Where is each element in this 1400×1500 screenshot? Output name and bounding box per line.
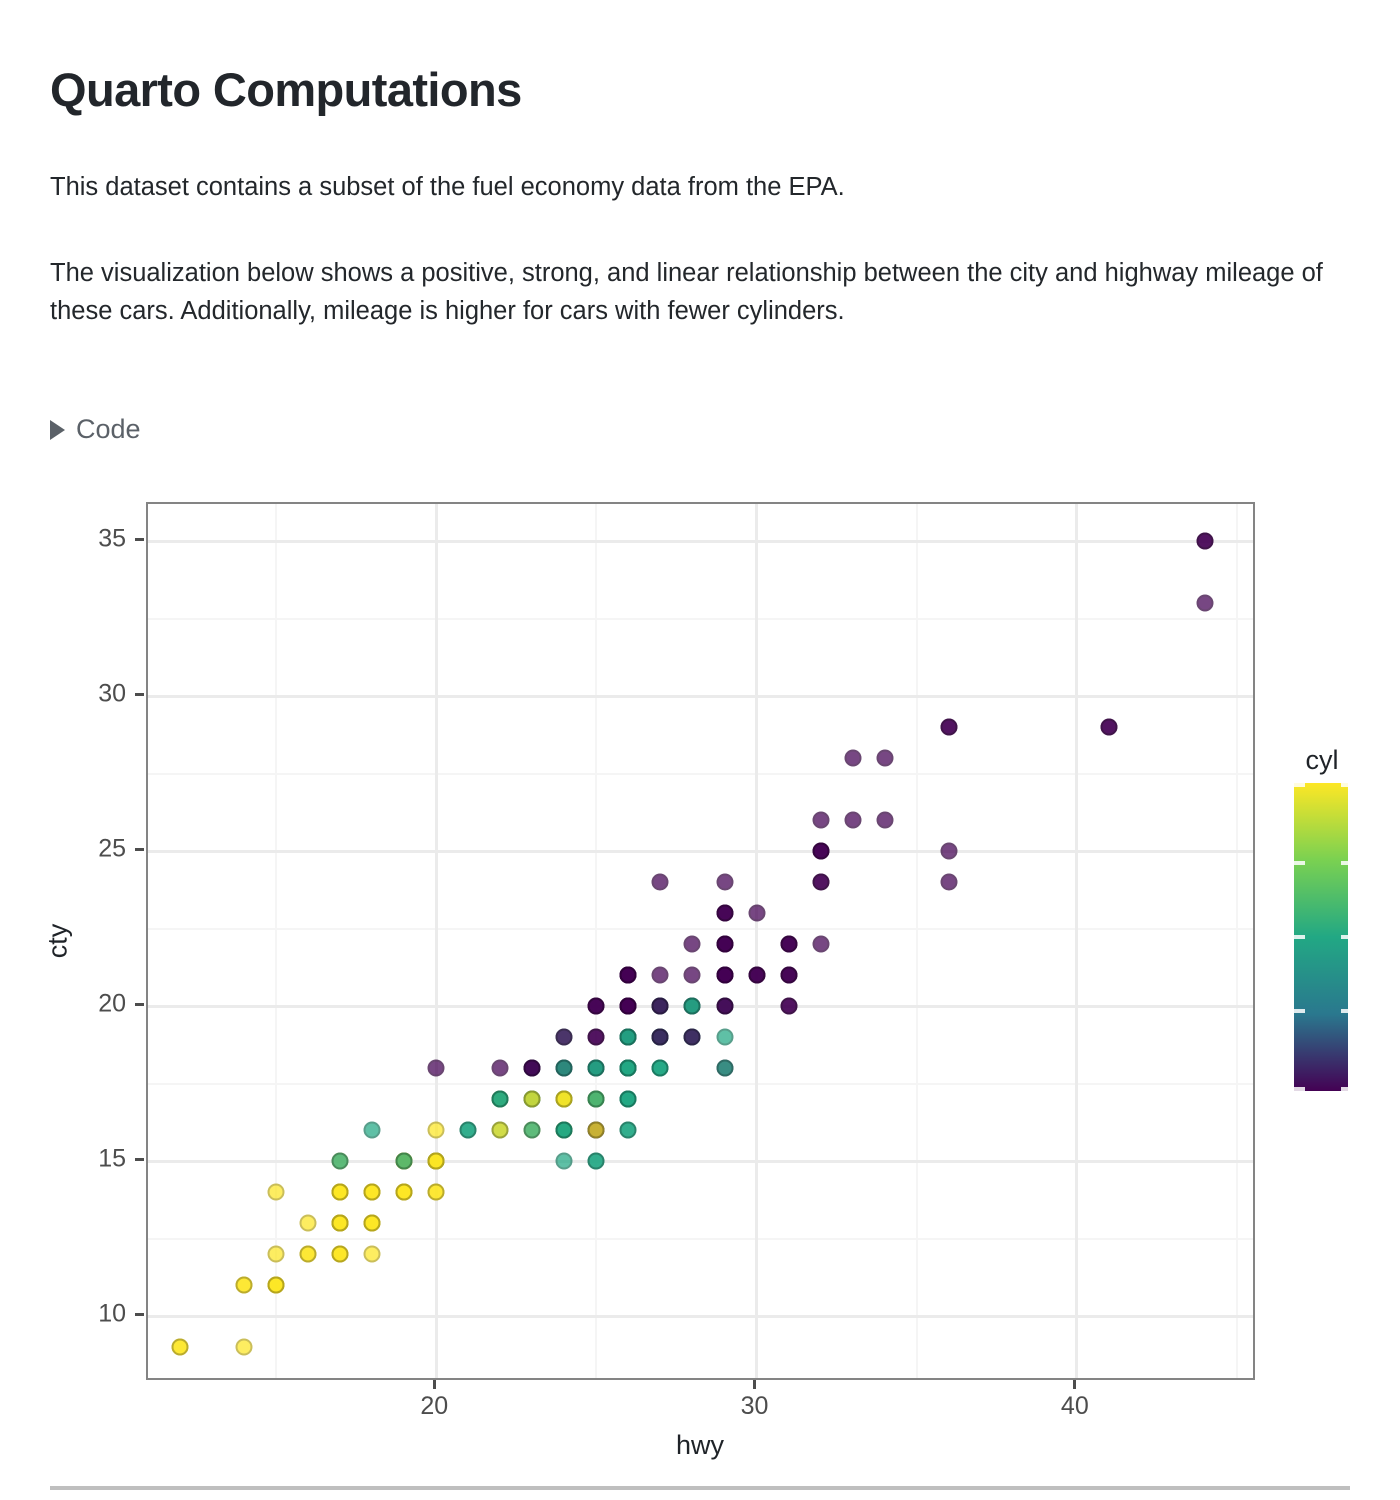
- x-tick-mark: [753, 1380, 756, 1389]
- scatter-point: [588, 998, 605, 1015]
- scatter-point: [524, 1060, 541, 1077]
- scatter-point: [364, 1184, 381, 1201]
- scatter-point: [236, 1277, 253, 1294]
- scatter-point: [332, 1184, 349, 1201]
- legend-tick-mark: [1294, 1087, 1305, 1091]
- scatter-point: [300, 1246, 317, 1263]
- scatter-point: [684, 936, 701, 953]
- scatter-point: [492, 1122, 509, 1139]
- scatter-point: [236, 1339, 253, 1356]
- scatter-point: [1196, 533, 1213, 550]
- scatter-point: [588, 1060, 605, 1077]
- scatter-point: [812, 812, 829, 829]
- scatter-point: [332, 1153, 349, 1170]
- scatter-point: [556, 1060, 573, 1077]
- scatter-point: [812, 843, 829, 860]
- scatter-point: [812, 874, 829, 891]
- scatter-point: [940, 719, 957, 736]
- scatter-point: [364, 1246, 381, 1263]
- scatter-point: [588, 1122, 605, 1139]
- gridline-minor-horizontal: [148, 773, 1253, 775]
- scatter-point: [812, 936, 829, 953]
- scatter-point: [652, 998, 669, 1015]
- y-axis-title: cty: [43, 924, 74, 959]
- gridline-major-vertical: [1075, 504, 1078, 1378]
- gridline-major-horizontal: [148, 695, 1253, 698]
- code-disclosure-toggle[interactable]: Code: [50, 414, 141, 445]
- legend-tick-mark: [1341, 1009, 1348, 1013]
- y-tick-label: 20: [98, 990, 126, 1019]
- y-tick-mark: [135, 848, 144, 851]
- gridline-major-vertical: [435, 504, 438, 1378]
- triangle-right-icon: [50, 420, 65, 440]
- scatter-point: [620, 967, 637, 984]
- scatter-plot-figure: 101520253035203040 cty hwy cyl: [0, 480, 1400, 1470]
- code-disclosure-label: Code: [76, 414, 141, 445]
- gridline-minor-vertical: [595, 504, 597, 1378]
- x-tick-mark: [1073, 1380, 1076, 1389]
- scatter-point: [460, 1122, 477, 1139]
- scatter-point: [780, 967, 797, 984]
- scatter-point: [588, 1029, 605, 1046]
- plot-panel: [146, 502, 1255, 1380]
- legend-tick-mark: [1294, 1009, 1305, 1013]
- intro-paragraph-2: The visualization below shows a positive…: [50, 254, 1335, 332]
- scatter-point: [684, 1029, 701, 1046]
- scatter-point: [396, 1184, 413, 1201]
- scatter-point: [652, 967, 669, 984]
- scatter-point: [780, 998, 797, 1015]
- y-tick-label: 15: [98, 1145, 126, 1174]
- scatter-point: [748, 905, 765, 922]
- legend-tick-mark: [1294, 783, 1305, 787]
- scatter-point: [364, 1215, 381, 1232]
- scatter-point: [1196, 595, 1213, 612]
- x-tick-label: 30: [741, 1392, 769, 1421]
- legend-tick-mark: [1341, 935, 1348, 939]
- scatter-point: [556, 1153, 573, 1170]
- scatter-point: [716, 998, 733, 1015]
- scatter-point: [748, 967, 765, 984]
- y-tick-mark: [135, 538, 144, 541]
- scatter-point: [716, 967, 733, 984]
- y-tick-label: 30: [98, 680, 126, 709]
- scatter-point: [300, 1215, 317, 1232]
- gridline-major-horizontal: [148, 1160, 1253, 1163]
- scatter-point: [716, 874, 733, 891]
- scatter-point: [652, 1029, 669, 1046]
- gridline-major-horizontal: [148, 540, 1253, 543]
- legend-tick-mark: [1294, 935, 1305, 939]
- x-tick-label: 20: [420, 1392, 448, 1421]
- scatter-point: [588, 1153, 605, 1170]
- scatter-point: [716, 1060, 733, 1077]
- scatter-point: [588, 1091, 605, 1108]
- gridline-minor-horizontal: [148, 1238, 1253, 1240]
- scatter-point: [268, 1184, 285, 1201]
- scatter-point: [428, 1153, 445, 1170]
- scatter-point: [172, 1339, 189, 1356]
- y-tick-mark: [135, 693, 144, 696]
- scatter-point: [428, 1060, 445, 1077]
- gridline-minor-horizontal: [148, 928, 1253, 930]
- scatter-point: [876, 750, 893, 767]
- x-axis-title: hwy: [676, 1430, 724, 1461]
- y-tick-label: 10: [98, 1300, 126, 1329]
- legend-colorbar: [1294, 783, 1348, 1091]
- scatter-point: [492, 1091, 509, 1108]
- legend-tick-mark: [1341, 861, 1348, 865]
- scatter-point: [332, 1246, 349, 1263]
- scatter-point: [428, 1184, 445, 1201]
- scatter-point: [556, 1091, 573, 1108]
- scatter-point: [940, 843, 957, 860]
- scatter-point: [364, 1122, 381, 1139]
- legend-title: cyl: [1306, 745, 1339, 776]
- gridline-minor-horizontal: [148, 1083, 1253, 1085]
- x-tick-label: 40: [1061, 1392, 1089, 1421]
- scatter-point: [684, 967, 701, 984]
- y-tick-label: 35: [98, 525, 126, 554]
- gridline-minor-vertical: [916, 504, 918, 1378]
- scatter-point: [332, 1215, 349, 1232]
- y-tick-mark: [135, 1003, 144, 1006]
- y-tick-label: 25: [98, 835, 126, 864]
- gridline-major-horizontal: [148, 1315, 1253, 1318]
- scatter-point: [556, 1122, 573, 1139]
- scatter-point: [524, 1091, 541, 1108]
- scatter-point: [716, 936, 733, 953]
- scatter-point: [716, 1029, 733, 1046]
- scatter-point: [620, 998, 637, 1015]
- gridline-major-vertical: [755, 504, 758, 1378]
- scatter-point: [428, 1122, 445, 1139]
- intro-paragraph-1: This dataset contains a subset of the fu…: [50, 168, 1335, 207]
- scatter-point: [1100, 719, 1117, 736]
- scatter-point: [620, 1122, 637, 1139]
- x-tick-mark: [433, 1380, 436, 1389]
- legend-tick-mark: [1341, 1087, 1348, 1091]
- scatter-point: [780, 936, 797, 953]
- scatter-point: [524, 1122, 541, 1139]
- legend-tick-mark: [1294, 861, 1305, 865]
- page-title: Quarto Computations: [50, 63, 522, 117]
- scatter-point: [268, 1277, 285, 1294]
- legend-tick-mark: [1341, 783, 1348, 787]
- scatter-point: [396, 1153, 413, 1170]
- scatter-point: [652, 874, 669, 891]
- scatter-point: [268, 1246, 285, 1263]
- bottom-divider: [50, 1486, 1350, 1490]
- scatter-point: [844, 750, 861, 767]
- gridline-major-horizontal: [148, 850, 1253, 853]
- y-tick-mark: [135, 1313, 144, 1316]
- gridline-minor-horizontal: [148, 618, 1253, 620]
- scatter-point: [652, 1060, 669, 1077]
- scatter-point: [492, 1060, 509, 1077]
- scatter-point: [620, 1029, 637, 1046]
- scatter-point: [684, 998, 701, 1015]
- page-root: Quarto Computations This dataset contain…: [0, 0, 1400, 1500]
- scatter-point: [620, 1091, 637, 1108]
- gridline-minor-vertical: [1236, 504, 1238, 1378]
- scatter-point: [716, 905, 733, 922]
- scatter-point: [556, 1029, 573, 1046]
- scatter-point: [844, 812, 861, 829]
- scatter-point: [940, 874, 957, 891]
- scatter-point: [876, 812, 893, 829]
- y-tick-mark: [135, 1158, 144, 1161]
- scatter-point: [620, 1060, 637, 1077]
